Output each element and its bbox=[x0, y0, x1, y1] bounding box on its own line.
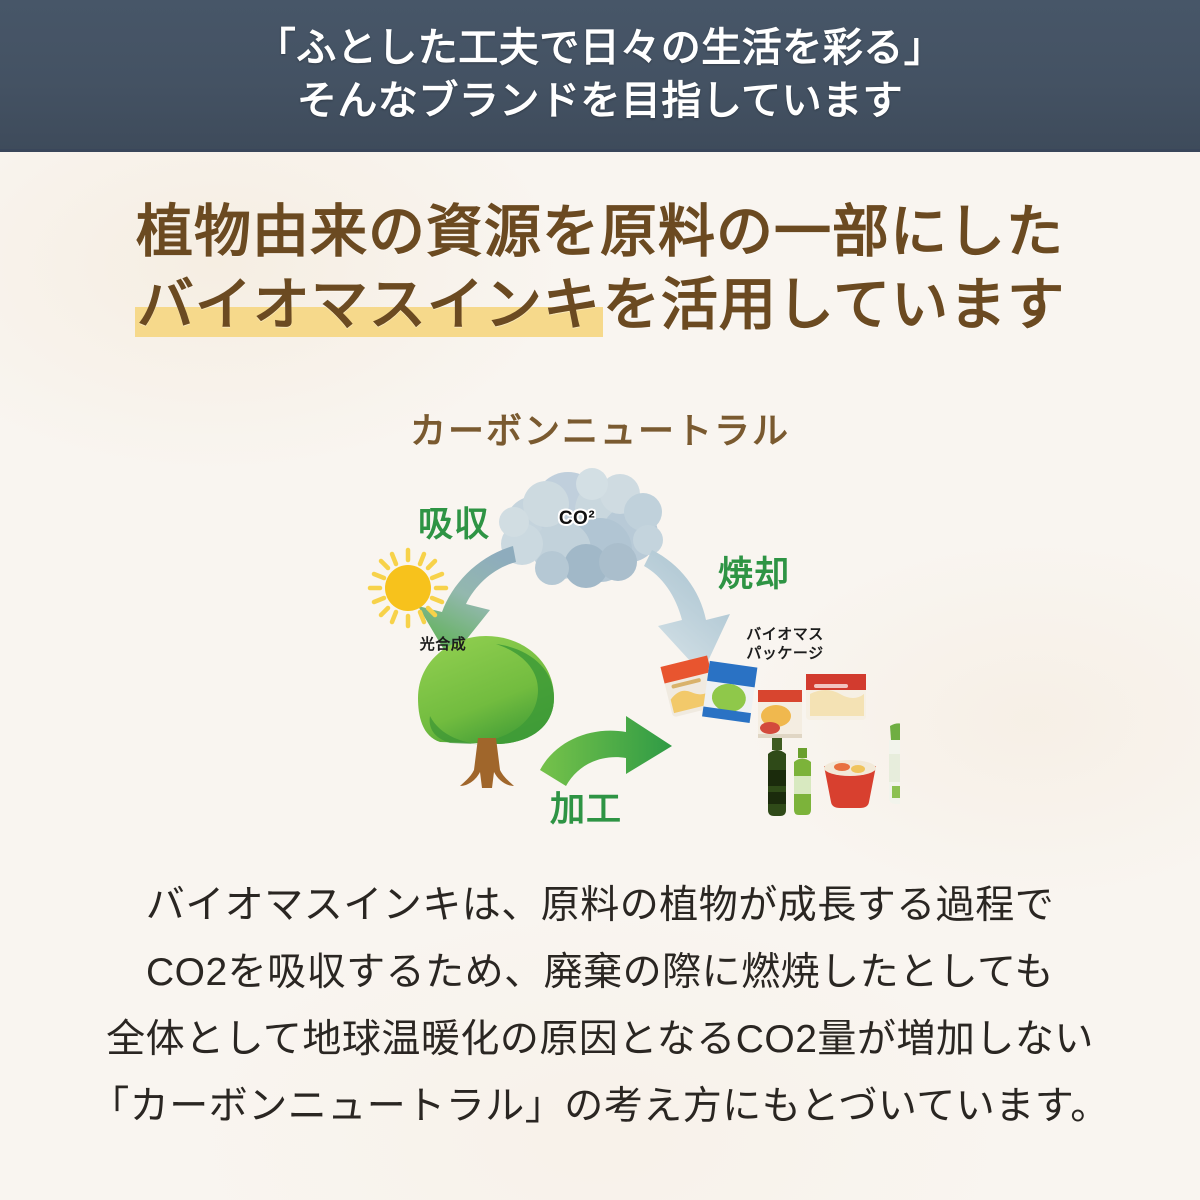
body-line-3: 全体として地球温暖化の原因となるCO2量が増加しない bbox=[0, 1006, 1200, 1073]
label-absorb: 吸収 bbox=[418, 496, 490, 547]
arrow-process-icon bbox=[540, 716, 672, 786]
label-incinerate: 焼却 bbox=[718, 546, 790, 597]
carbon-neutral-diagram: カーボンニュートラル bbox=[300, 398, 900, 858]
co2-label: CO² bbox=[532, 508, 622, 530]
bowl-red bbox=[824, 760, 876, 808]
label-biomass-package-line-2: パッケージ bbox=[725, 645, 845, 664]
page-root: 「ふとした工夫で日々の生活を彩る」 そんなブランドを目指しています 植物由来の資… bbox=[0, 0, 1200, 1200]
sun-icon bbox=[370, 550, 446, 626]
label-process: 加工 bbox=[550, 781, 622, 832]
headline-line-2: バイオマスインキを活用しています bbox=[0, 269, 1200, 342]
body-paragraph: バイオマスインキは、原料の植物が成長する過程で CO2を吸収するため、廃棄の際に… bbox=[0, 872, 1200, 1140]
header-line-2: そんなブランドを目指しています bbox=[297, 75, 903, 128]
label-biomass-package: バイオマス パッケージ bbox=[725, 626, 845, 664]
body-line-2: CO2を吸収するため、廃棄の際に燃焼したとしても bbox=[0, 939, 1200, 1006]
bottle-green bbox=[794, 748, 811, 815]
tree-icon bbox=[418, 636, 554, 788]
header-banner: 「ふとした工夫で日々の生活を彩る」 そんなブランドを目指しています bbox=[0, 0, 1200, 152]
biomass-packages-icon bbox=[660, 655, 900, 816]
body-line-4: 「カーボンニュートラル」の考え方にもとづいています。 bbox=[0, 1073, 1200, 1140]
headline-highlight: バイオマスインキ bbox=[135, 273, 603, 337]
bottle-dark bbox=[768, 738, 786, 816]
label-biomass-package-line-1: バイオマス bbox=[725, 626, 845, 645]
header-line-1: 「ふとした工夫で日々の生活を彩る」 bbox=[256, 22, 945, 75]
page-title: 植物由来の資源を原料の一部にした バイオマスインキを活用しています bbox=[0, 196, 1200, 342]
headline-line-2-rest: を活用しています bbox=[603, 273, 1065, 337]
body-line-1: バイオマスインキは、原料の植物が成長する過程で bbox=[0, 872, 1200, 939]
label-photosynthesis: 光合成 bbox=[398, 636, 488, 655]
mayo-bottle bbox=[889, 723, 900, 804]
headline-line-1: 植物由来の資源を原料の一部にした bbox=[0, 196, 1200, 269]
